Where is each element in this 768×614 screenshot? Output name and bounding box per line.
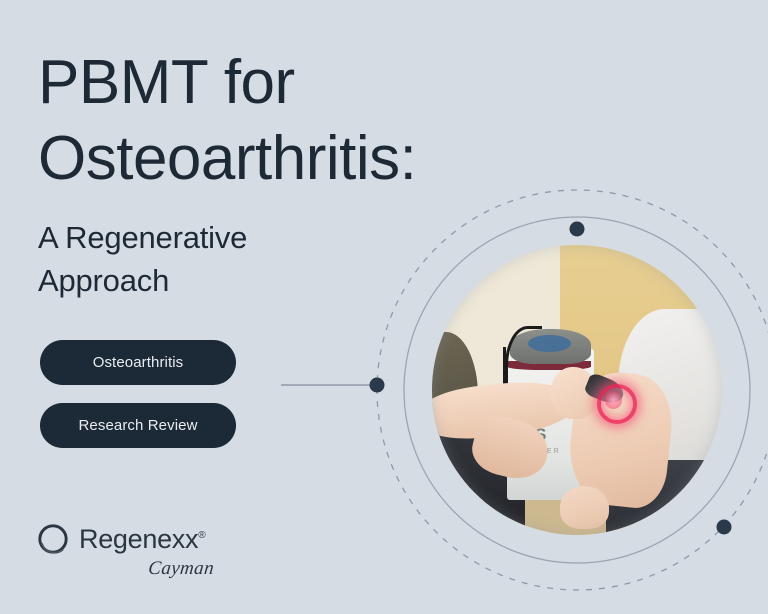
marker-dot-left: [370, 378, 385, 393]
brand-logo[interactable]: Regenexx® Cayman: [36, 522, 251, 584]
poster-canvas: US LASER: [0, 0, 768, 614]
tag-pill-research-review[interactable]: Research Review: [40, 403, 236, 448]
tag-pill-label: Research Review: [78, 417, 197, 434]
page-title-line-1: PBMT for: [38, 45, 538, 121]
brand-wordmark-text: Regenexx: [79, 524, 198, 554]
page-title: PBMT for Osteoarthritis:: [38, 45, 538, 197]
page-title-line-2: Osteoarthritis:: [38, 121, 538, 197]
tag-pill-osteoarthritis[interactable]: Osteoarthritis: [40, 340, 236, 385]
regenexx-ring-icon: [36, 522, 70, 556]
page-subtitle-line-1: A Regenerative: [38, 216, 458, 259]
brand-location: Cayman: [35, 558, 215, 580]
page-subtitle: A Regenerative Approach: [38, 216, 458, 302]
tag-pill-label: Osteoarthritis: [93, 354, 184, 371]
marker-dot-bottom-right: [717, 520, 732, 535]
page-subtitle-line-2: Approach: [38, 259, 458, 302]
registered-trademark-icon: ®: [198, 530, 205, 541]
brand-wordmark: Regenexx®: [79, 526, 205, 553]
marker-dot-top: [570, 222, 585, 237]
